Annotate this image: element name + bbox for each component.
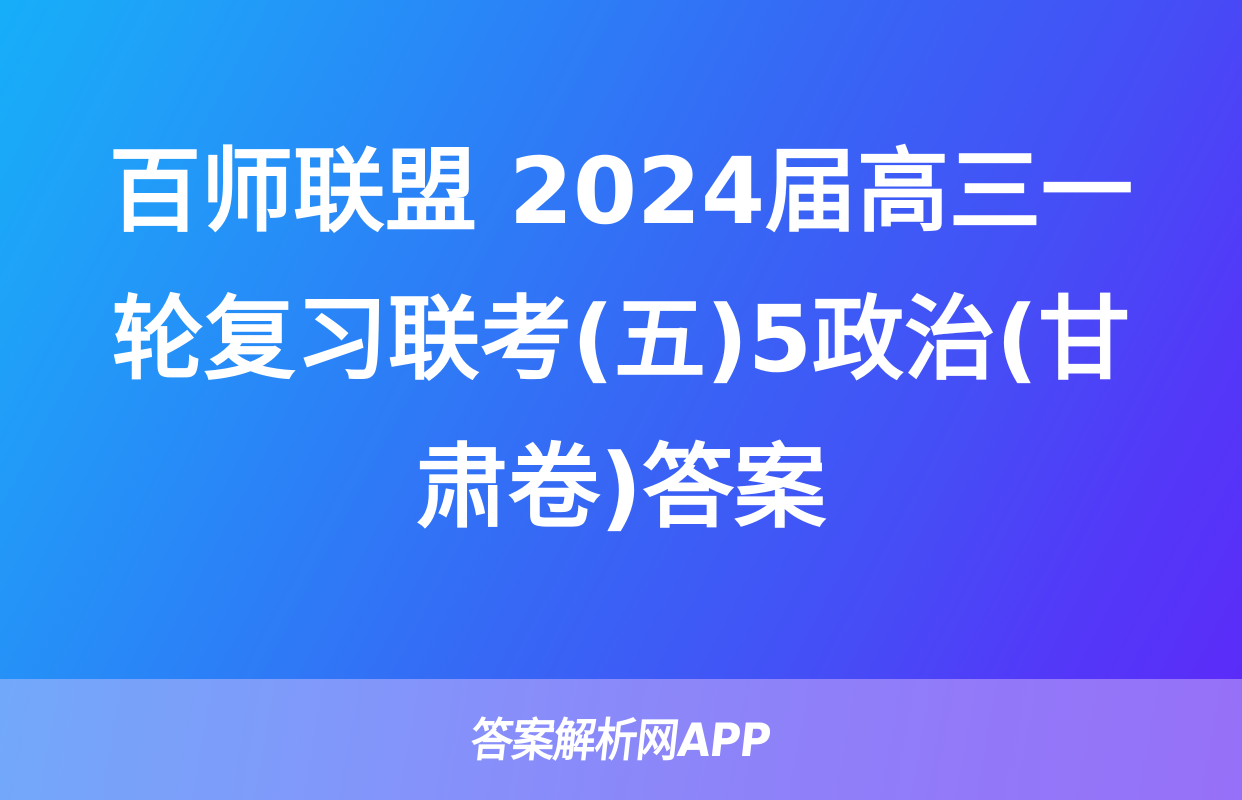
page-title: 百师联盟 2024届高三一轮复习联考(五)5政治(甘肃卷)答案	[78, 118, 1164, 562]
poster-canvas: 百师联盟 2024届高三一轮复习联考(五)5政治(甘肃卷)答案 答案解析网APP	[0, 0, 1242, 800]
watermark-text: 答案解析网APP	[469, 717, 773, 763]
title-container: 百师联盟 2024届高三一轮复习联考(五)5政治(甘肃卷)答案	[0, 0, 1242, 679]
watermark-bar: 答案解析网APP	[0, 679, 1242, 800]
